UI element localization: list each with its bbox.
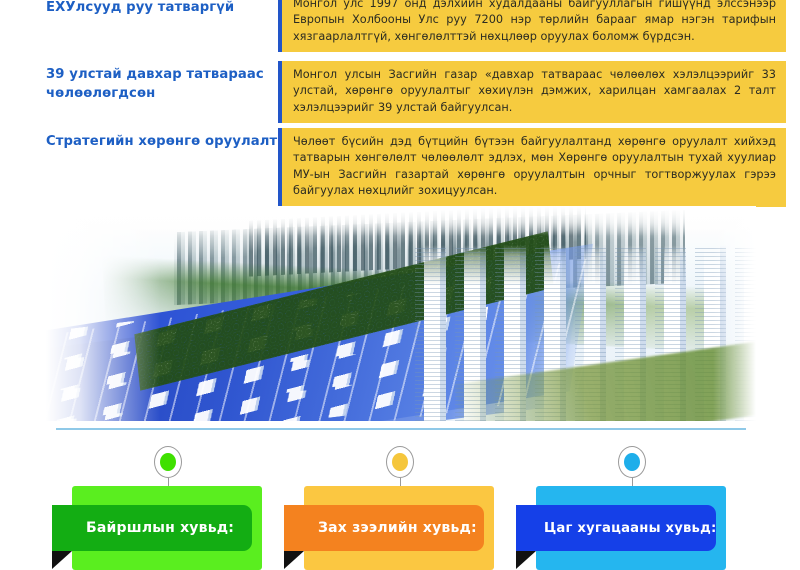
info-row-label: ЕХУлсууд руу татваргүй [46,0,278,17]
city-fade-top [46,206,756,236]
info-rows-section: ЕХУлсууд руу татваргүй Монгол улс 1997 о… [0,0,800,205]
info-row: 39 улстай давхар татвараас чөлөөлөгдсөн … [0,61,800,123]
ribbon-label-time[interactable]: Цаг хугацааны хувьд: [516,505,716,551]
marker-dot-icon [392,453,408,471]
marker-green [154,446,184,480]
city-fade-right [713,206,756,421]
ribbon-fold [516,551,536,569]
ribbon-fold [52,551,72,569]
ribbon-label-location[interactable]: Байршлын хувьд: [52,505,252,551]
info-panel-text: Монгол улсын Засгийн газар «давхар татва… [282,61,786,123]
info-row-label: 39 улстай давхар татвараас чөлөөлөгдсөн [46,61,278,103]
ribbon-fold [284,551,304,569]
info-row-label: Стратегийн хөрөнгө оруулалт [46,128,278,151]
marker-dot-icon [160,453,176,471]
info-panel-text: Чөлөөт бүсийн дэд бүтцийн бүтээн байгуул… [282,128,786,207]
image-divider-rule [56,428,746,430]
info-panel: Монгол улсын Засгийн газар «давхар татва… [278,61,786,123]
marker-yellow [386,446,416,480]
info-row: Стратегийн хөрөнгө оруулалт Чөлөөт бүсий… [0,128,800,207]
marker-blue [618,446,648,480]
ribbon-label-market[interactable]: Зах зээлийн хувьд: [284,505,484,551]
info-panel-text: Монгол улс 1997 онд дэлхиин худалдааны б… [282,0,786,52]
info-panel: Чөлөөт бүсийн дэд бүтцийн бүтээн байгуул… [278,128,786,207]
city-fade-left [46,206,160,421]
marker-dot-icon [624,453,640,471]
city-illustration [46,206,756,421]
info-panel: Монгол улс 1997 онд дэлхиин худалдааны б… [278,0,786,52]
info-row: ЕХУлсууд руу татваргүй Монгол улс 1997 о… [0,0,800,52]
